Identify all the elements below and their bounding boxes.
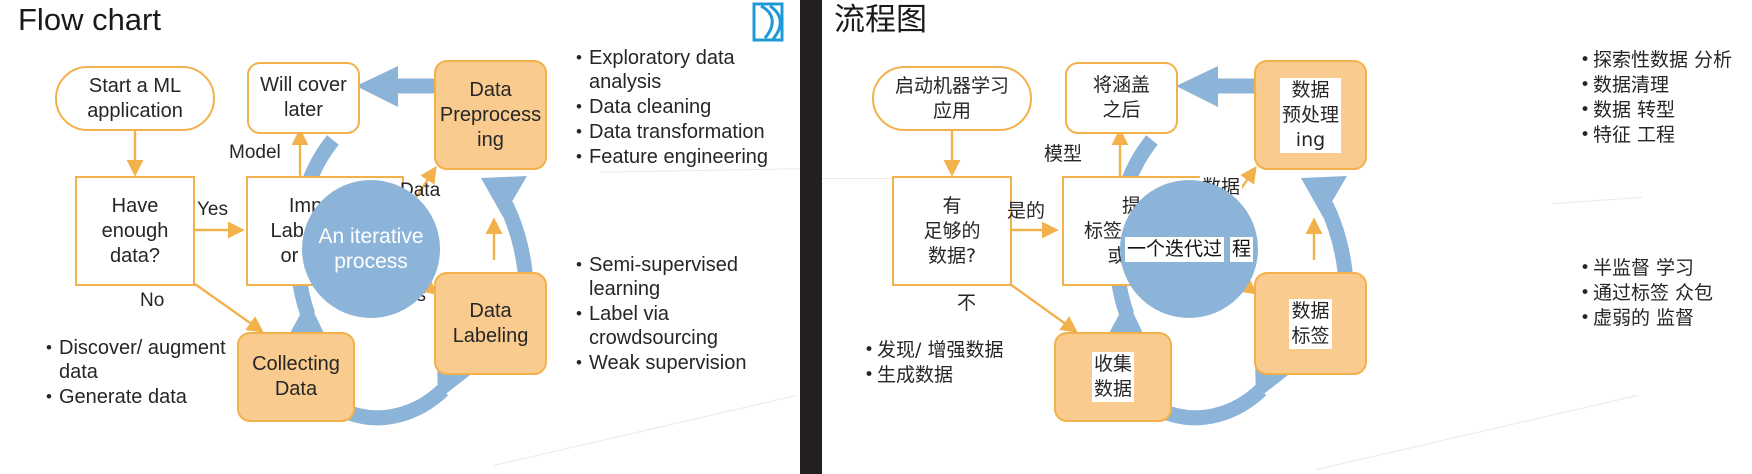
- node-data-preprocessing-right[interactable]: 数据 预处理 ing: [1254, 60, 1367, 170]
- start-line-2: application: [87, 99, 183, 124]
- will-cover-line-2: later: [260, 98, 347, 123]
- node-collecting-data-right[interactable]: 收集 数据: [1054, 332, 1172, 422]
- bullet-dot: •: [576, 302, 589, 326]
- preprocess-line-1: Data: [440, 78, 541, 103]
- list-item: • 探索性数据 分析: [1580, 48, 1750, 72]
- collecting-line-1: 收集: [1092, 352, 1134, 377]
- collecting-line-2: Data: [252, 377, 340, 402]
- bullet-text: Generate data: [59, 385, 187, 409]
- bullet-text: 虚弱的 监督: [1593, 306, 1694, 330]
- bullet-dot: •: [576, 253, 589, 277]
- circle-line-2: 程: [1230, 237, 1253, 262]
- node-data-labeling-left[interactable]: Data Labeling: [434, 272, 547, 375]
- slide-comparison-stage: Flow chart: [0, 0, 1752, 474]
- list-item: • 发现/ 增强数据: [864, 338, 1029, 362]
- document-stack-logo-icon: [751, 2, 791, 42]
- node-will-cover-later-right[interactable]: 将涵盖 之后: [1065, 62, 1178, 134]
- node-will-cover-later-left[interactable]: Will cover later: [247, 62, 360, 134]
- bullet-dot: •: [864, 338, 877, 362]
- preprocess-line-2: Preprocess: [440, 103, 541, 128]
- bullets-labeling-left: • Semi-supervised learning • Label via c…: [576, 253, 791, 376]
- list-item: • 数据 转型: [1580, 98, 1750, 122]
- circle-line-1: An iterative: [318, 225, 423, 248]
- edge-label-no-right: 不: [957, 292, 976, 314]
- list-item: • 通过标签 众包: [1580, 281, 1750, 305]
- node-data-preprocessing-left[interactable]: Data Preprocess ing: [434, 60, 547, 170]
- list-item: • Discover/ augment data: [46, 336, 226, 384]
- will-cover-line-1: 将涵盖: [1093, 73, 1150, 98]
- circle-line-1: 一个迭代过: [1125, 237, 1224, 262]
- preprocess-line-3: ing: [440, 128, 541, 153]
- preprocess-line-2: 预处理: [1280, 103, 1341, 128]
- preprocess-line-1: 数据: [1280, 78, 1341, 103]
- bullet-dot: •: [1580, 123, 1593, 147]
- panel-divider: [800, 0, 822, 474]
- bullet-text: Weak supervision: [589, 351, 746, 375]
- bullets-collecting-left: • Discover/ augment data • Generate data: [46, 336, 226, 410]
- node-start-ml-application-right[interactable]: 启动机器学习 应用: [872, 66, 1032, 131]
- list-item: • 虚弱的 监督: [1580, 306, 1750, 330]
- bullet-dot: •: [576, 46, 589, 70]
- node-start-ml-application-left[interactable]: Start a ML application: [55, 66, 215, 131]
- node-have-enough-data-right[interactable]: 有 足够的 数据?: [892, 176, 1012, 286]
- collecting-line-2: 数据: [1092, 377, 1134, 402]
- bullet-dot: •: [46, 336, 59, 360]
- list-item: • Feature engineering: [576, 145, 791, 169]
- have-enough-line-3: 数据?: [923, 244, 980, 269]
- bullet-dot: •: [1580, 306, 1593, 330]
- edge-label-model-left: Model: [229, 142, 281, 164]
- will-cover-line-1: Will cover: [260, 73, 347, 98]
- page-title-left: Flow chart: [18, 3, 161, 37]
- node-collecting-data-left[interactable]: Collecting Data: [237, 332, 355, 422]
- have-enough-line-2: 足够的: [923, 219, 980, 244]
- node-have-enough-data-left[interactable]: Have enough data?: [75, 176, 195, 286]
- bullet-dot: •: [1580, 48, 1593, 72]
- bullet-text: Feature engineering: [589, 145, 768, 169]
- bullet-text: Exploratory data analysis: [589, 46, 791, 94]
- list-item: • Data cleaning: [576, 95, 791, 119]
- start-line-1: 启动机器学习: [895, 74, 1009, 99]
- bullets-preprocessing-left: • Exploratory data analysis • Data clean…: [576, 46, 791, 170]
- bullet-text: 生成数据: [877, 363, 953, 387]
- bullets-preprocessing-right: • 探索性数据 分析 • 数据清理 • 数据 转型 • 特征 工程: [1580, 48, 1750, 148]
- bullet-text: 探索性数据 分析: [1593, 48, 1732, 72]
- edge-label-yes-right: 是的: [1007, 200, 1045, 222]
- labeling-line-1: 数据: [1289, 299, 1331, 324]
- will-cover-line-2: 之后: [1093, 98, 1150, 123]
- bullet-dot: •: [1580, 281, 1593, 305]
- labeling-line-2: 标签: [1289, 324, 1331, 349]
- list-item: • 生成数据: [864, 363, 1029, 387]
- list-item: • Exploratory data analysis: [576, 46, 791, 94]
- bullet-dot: •: [864, 363, 877, 387]
- list-item: • Weak supervision: [576, 351, 791, 375]
- bullet-dot: •: [46, 385, 59, 409]
- bullet-text: 数据 转型: [1593, 98, 1675, 122]
- list-item: • Semi-supervised learning: [576, 253, 791, 301]
- bullet-text: Semi-supervised learning: [589, 253, 791, 301]
- bullet-dot: •: [1580, 98, 1593, 122]
- preprocess-line-3: ing: [1280, 128, 1341, 153]
- bullet-dot: •: [576, 145, 589, 169]
- bullet-text: 特征 工程: [1593, 123, 1675, 147]
- bullet-text: 发现/ 增强数据: [877, 338, 1003, 362]
- bullet-dot: •: [576, 95, 589, 119]
- bullet-text: 半监督 学习: [1593, 256, 1694, 280]
- edge-label-model-right: 模型: [1044, 143, 1082, 165]
- hairline-3: [822, 178, 892, 179]
- edge-label-no-left: No: [140, 290, 164, 312]
- start-line-2: 应用: [895, 99, 1009, 124]
- bullet-dot: •: [576, 120, 589, 144]
- bullets-labeling-right: • 半监督 学习 • 通过标签 众包 • 虚弱的 监督: [1580, 256, 1750, 331]
- labeling-line-1: Data: [453, 299, 529, 324]
- node-data-labeling-right[interactable]: 数据 标签: [1254, 272, 1367, 375]
- bullet-text: 通过标签 众包: [1593, 281, 1713, 305]
- collecting-line-1: Collecting: [252, 352, 340, 377]
- bullet-dot: •: [1580, 73, 1593, 97]
- page-title-right: 流程图: [834, 3, 927, 37]
- have-enough-line-2: enough: [102, 219, 169, 244]
- hairline-5: [1316, 395, 1638, 470]
- bullet-text: Data transformation: [589, 120, 765, 144]
- iterative-process-circle-left: An iterative process: [302, 180, 440, 318]
- bullets-collecting-right: • 发现/ 增强数据 • 生成数据: [864, 338, 1029, 388]
- labeling-line-2: Labeling: [453, 324, 529, 349]
- bullet-text: Data cleaning: [589, 95, 711, 119]
- edge-label-yes-left: Yes: [197, 199, 228, 221]
- list-item: • 半监督 学习: [1580, 256, 1750, 280]
- list-item: • Generate data: [46, 385, 226, 409]
- circle-line-2: process: [334, 250, 408, 273]
- list-item: • 特征 工程: [1580, 123, 1750, 147]
- have-enough-line-3: data?: [102, 244, 169, 269]
- list-item: • 数据清理: [1580, 73, 1750, 97]
- left-panel-english: Flow chart: [0, 0, 800, 474]
- hairline-2: [494, 395, 796, 466]
- bullet-text: Label via crowdsourcing: [589, 302, 791, 350]
- bullet-dot: •: [576, 351, 589, 375]
- bullet-text: Discover/ augment data: [59, 336, 226, 384]
- bullet-text: 数据清理: [1593, 73, 1669, 97]
- list-item: • Label via crowdsourcing: [576, 302, 791, 350]
- list-item: • Data transformation: [576, 120, 791, 144]
- start-line-1: Start a ML: [87, 74, 183, 99]
- have-enough-line-1: 有: [923, 194, 980, 219]
- hairline-4: [1552, 197, 1642, 204]
- have-enough-line-1: Have: [102, 194, 169, 219]
- iterative-process-circle-right: 一个迭代过 程: [1120, 180, 1258, 318]
- right-panel-chinese: 流程图: [822, 0, 1752, 474]
- bullet-dot: •: [1580, 256, 1593, 280]
